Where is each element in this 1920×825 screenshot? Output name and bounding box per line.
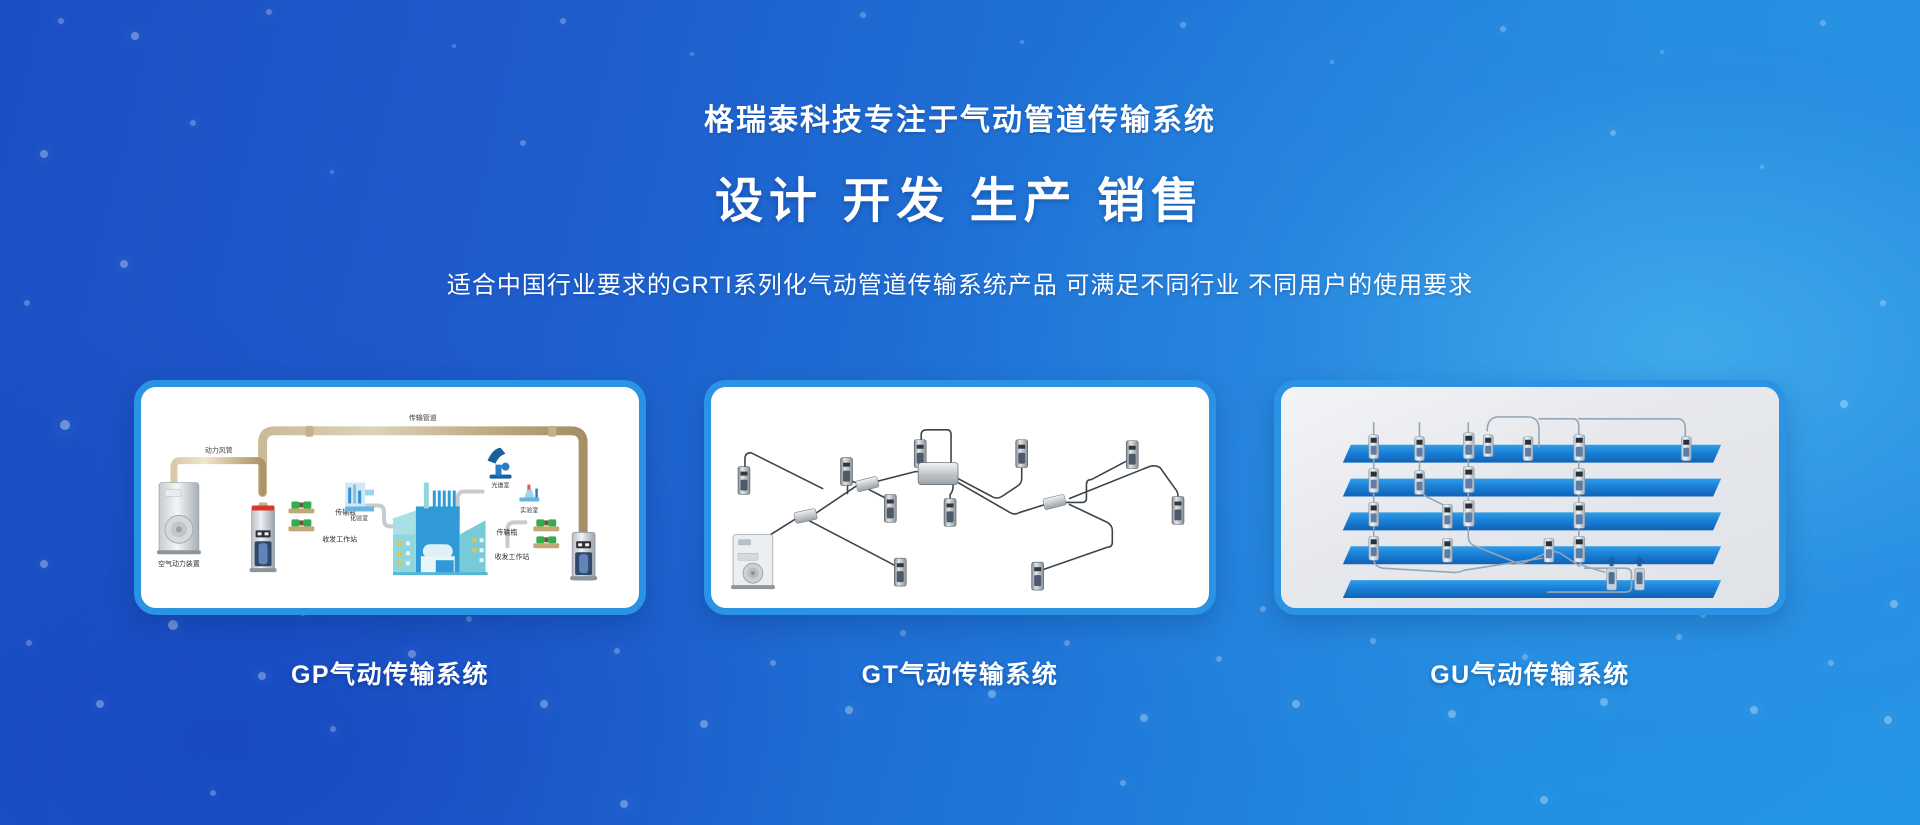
svg-text:空气动力装置: 空气动力装置 (158, 559, 200, 568)
product-card-gp[interactable]: 传输管道 动力风管 空气动力装置 (134, 380, 646, 691)
banner-headline: 设计 开发 生产 销售 (0, 161, 1920, 231)
card-label-gu: GU气动传输系统 (1274, 655, 1786, 691)
product-card-gt[interactable]: GT气动传输系统 (704, 380, 1216, 691)
headline-block: 格瑞泰科技专注于气动管道传输系统 设计 开发 生产 销售 适合中国行业要求的GR… (0, 0, 1920, 300)
card-label-gt: GT气动传输系统 (704, 655, 1216, 691)
svg-text:收发工作站: 收发工作站 (495, 552, 530, 561)
card-frame-gt[interactable] (704, 380, 1216, 615)
svg-text:动力风管: 动力风管 (205, 446, 233, 455)
svg-text:化验室: 化验室 (350, 514, 368, 522)
banner-title: 格瑞泰科技专注于气动管道传输系统 (0, 95, 1920, 139)
svg-text:传输管道: 传输管道 (409, 413, 437, 422)
hero-banner: 格瑞泰科技专注于气动管道传输系统 设计 开发 生产 销售 适合中国行业要求的GR… (0, 0, 1920, 825)
card-label-gp: GP气动传输系统 (134, 655, 646, 691)
svg-text:收发工作站: 收发工作站 (322, 534, 357, 543)
product-card-gu[interactable]: GU气动传输系统 (1274, 380, 1786, 691)
card-frame-gu[interactable] (1274, 380, 1786, 615)
svg-text:光谱室: 光谱室 (492, 482, 510, 490)
card-frame-gp[interactable]: 传输管道 动力风管 空气动力装置 (134, 380, 646, 615)
svg-text:传输瓶: 传输瓶 (497, 527, 518, 536)
gt-network-diagram (711, 387, 1209, 608)
gp-system-diagram: 传输管道 动力风管 空气动力装置 (141, 387, 639, 608)
gu-multifloor-diagram (1281, 387, 1779, 608)
banner-subtitle: 适合中国行业要求的GRTI系列化气动管道传输系统产品 可满足不同行业 不同用户的… (0, 265, 1920, 300)
svg-text:实验室: 实验室 (520, 506, 538, 514)
product-card-row: 传输管道 动力风管 空气动力装置 (0, 380, 1920, 691)
